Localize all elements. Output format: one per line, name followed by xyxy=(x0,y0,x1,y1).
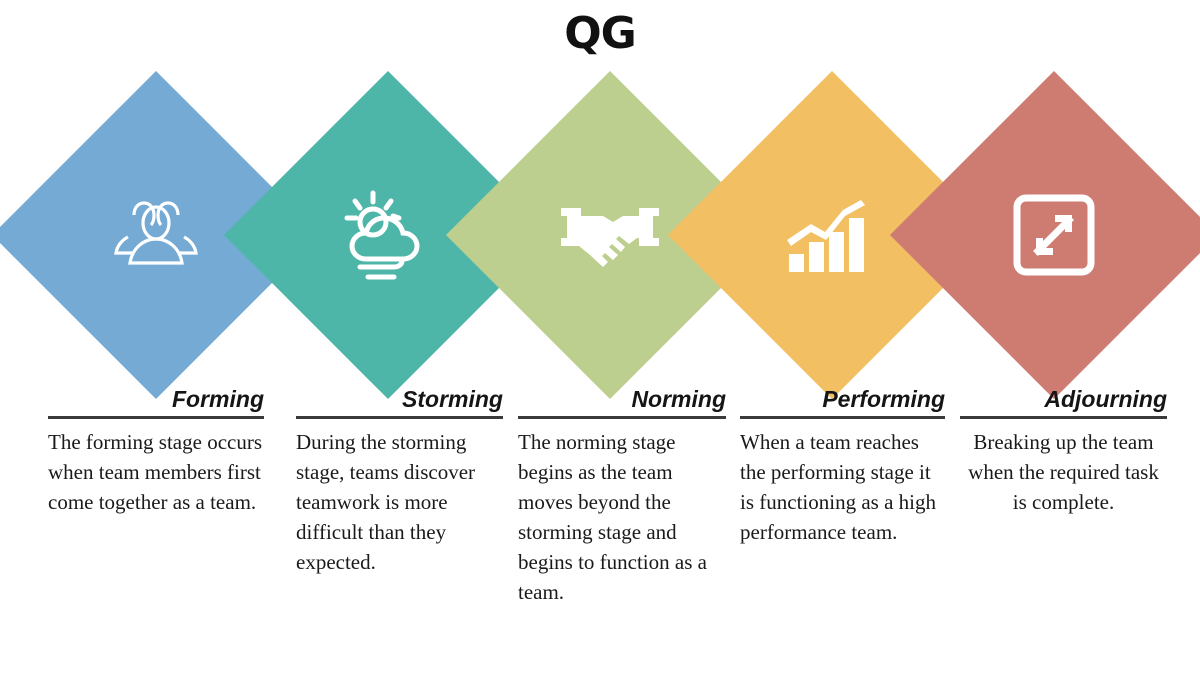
stage-body-forming: The forming stage occurs when team membe… xyxy=(48,419,264,517)
expand-arrows-icon xyxy=(938,119,1170,351)
stage-description-columns: Forming The forming stage occurs when te… xyxy=(0,386,1200,675)
stage-column-storming: Storming During the storming stage, team… xyxy=(296,386,503,578)
stage-title-adjourning: Adjourning xyxy=(960,386,1167,416)
stage-body-norming: The norming stage begins as the team mov… xyxy=(518,419,726,607)
stage-title-norming: Norming xyxy=(518,386,726,416)
stage-title-storming: Storming xyxy=(296,386,503,416)
stage-body-performing: When a team reaches the performing stage… xyxy=(740,419,945,547)
qg-logo: QG xyxy=(0,12,1200,56)
stage-body-storming: During the storming stage, teams discove… xyxy=(296,419,503,577)
stage-title-forming: Forming xyxy=(48,386,264,416)
diamond-stage-row xyxy=(0,75,1200,395)
stage-column-forming: Forming The forming stage occurs when te… xyxy=(48,386,264,518)
stage-column-norming: Norming The norming stage begins as the … xyxy=(518,386,726,607)
stage-body-adjourning: Breaking up the team when the required t… xyxy=(960,419,1167,517)
stage-title-performing: Performing xyxy=(740,386,945,416)
stage-column-adjourning: Adjourning Breaking up the team when the… xyxy=(960,386,1167,518)
stage-column-performing: Performing When a team reaches the perfo… xyxy=(740,386,945,548)
team-development-stages-infographic: QG xyxy=(0,0,1200,675)
